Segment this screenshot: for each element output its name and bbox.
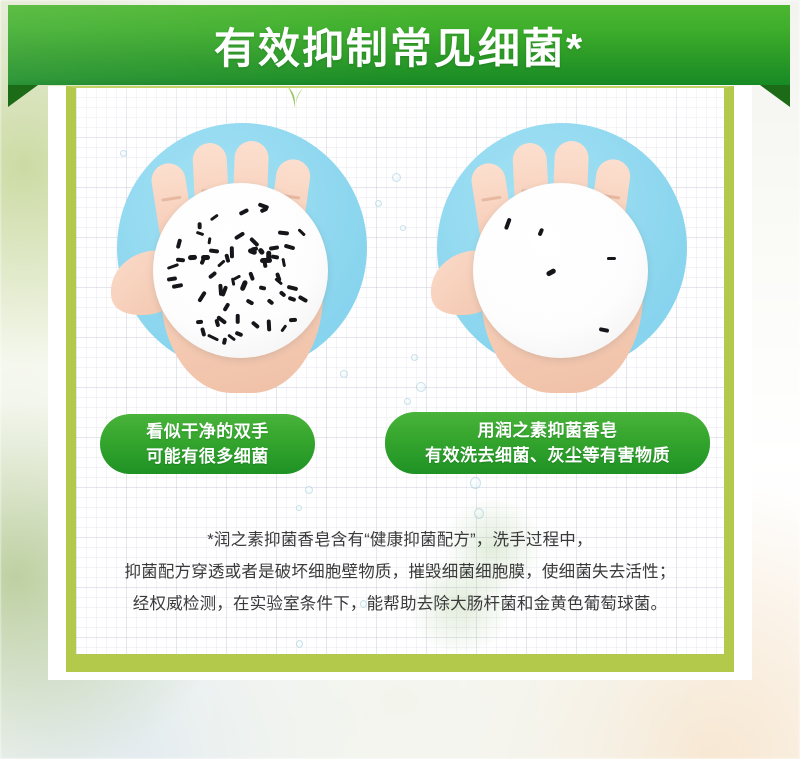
- bacteria-mark: [222, 302, 230, 312]
- water-droplet-icon: [400, 225, 406, 231]
- header-banner: 有效抑制常见细菌*: [8, 5, 790, 85]
- bacteria-mark: [176, 258, 185, 263]
- label-clean-line1: 用润之素抑菌香皂: [478, 418, 618, 443]
- bacteria-mark: [197, 291, 206, 303]
- bacteria-mark: [172, 283, 183, 289]
- water-droplet-icon: [392, 173, 401, 182]
- bacteria-mark: [222, 337, 228, 345]
- bacteria-mark: [248, 271, 255, 281]
- bacteria-disc-dirty: [153, 183, 328, 358]
- bacteria-mark: [239, 279, 248, 291]
- bacteria-mark: [280, 325, 287, 333]
- bacteria-disc-clean: [473, 183, 648, 358]
- bacteria-mark: [227, 334, 236, 342]
- bacteria-mark: [286, 284, 297, 290]
- footnote-line-2: 抑菌配方穿透或者是破坏细胞壁物质，摧毁细菌细胞膜，使细菌失去活性；: [86, 556, 714, 588]
- bacteria-mark: [210, 214, 219, 222]
- bacteria-mark: [246, 299, 255, 306]
- bacteria-mark: [266, 320, 271, 332]
- clean-hand-panel: [415, 105, 705, 405]
- banner-fold-left: [8, 85, 38, 107]
- water-droplet-icon: [305, 486, 313, 494]
- bacteria-mark: [545, 268, 555, 277]
- footnote-line-1: *润之素抑菌香皂含有“健康抑菌配方”，洗手过程中，: [86, 524, 714, 556]
- bacteria-mark: [198, 222, 202, 229]
- bacteria-mark: [269, 245, 280, 250]
- label-dirty-line1: 看似干净的双手: [146, 419, 269, 444]
- promo-page: 有效抑制常见细菌*: [0, 0, 800, 759]
- bacteria-mark: [201, 327, 207, 336]
- bacteria-mark: [260, 258, 272, 263]
- water-droplet-icon: [296, 505, 302, 511]
- bacteria-mark: [207, 334, 219, 342]
- bacteria-mark: [234, 231, 245, 240]
- bacteria-mark: [257, 247, 265, 255]
- label-clean-hand: 用润之素抑菌香皂 有效洗去细菌、灰尘等有害物质: [385, 412, 710, 474]
- bacteria-mark: [217, 259, 226, 267]
- water-droplet-icon: [404, 398, 411, 405]
- bacteria-mark: [538, 228, 545, 237]
- bacteria-mark: [504, 218, 512, 230]
- bacteria-mark: [259, 285, 267, 291]
- water-droplet-icon: [470, 477, 481, 489]
- bacteria-mark: [278, 231, 290, 236]
- dirty-hand-panel: [95, 105, 385, 405]
- bacteria-mark: [208, 236, 212, 244]
- bacteria-mark: [167, 276, 177, 282]
- label-dirty-line2: 可能有很多细菌: [146, 444, 269, 469]
- bacteria-mark: [188, 255, 198, 260]
- label-dirty-hand: 看似干净的双手 可能有很多细菌: [100, 414, 315, 474]
- bacteria-mark: [230, 246, 234, 258]
- bacteria-mark: [289, 318, 297, 322]
- footnote-paragraph: *润之素抑菌香皂含有“健康抑菌配方”，洗手过程中， 抑菌配方穿透或者是破坏细胞壁…: [86, 524, 714, 620]
- bacteria-mark: [266, 299, 274, 307]
- bacteria-mark: [251, 321, 260, 330]
- bacteria-mark: [166, 263, 178, 270]
- banner-fold-right: [760, 85, 790, 107]
- label-clean-line2: 有效洗去细菌、灰尘等有害物质: [425, 443, 670, 468]
- bacteria-mark: [196, 320, 203, 324]
- bacteria-mark: [236, 314, 240, 324]
- bacteria-mark: [209, 249, 220, 254]
- bacteria-mark: [284, 244, 296, 251]
- bacteria-mark: [249, 237, 259, 247]
- bacteria-mark: [235, 330, 244, 337]
- bacteria-mark: [297, 228, 306, 237]
- bacteria-mark: [278, 290, 286, 298]
- bacteria-mark: [196, 231, 205, 237]
- bacteria-mark: [259, 207, 268, 214]
- bacteria-mark: [200, 255, 209, 260]
- bacteria-mark: [297, 295, 308, 303]
- bacteria-mark: [176, 238, 182, 248]
- bacteria-mark: [287, 296, 296, 302]
- bacteria-mark: [607, 257, 616, 260]
- bacteria-mark: [281, 258, 286, 268]
- water-droplet-icon: [296, 640, 303, 648]
- page-title: 有效抑制常见细菌*: [8, 5, 790, 85]
- footnote-line-3: 经权威检测，在实验室条件下，能帮助去除大肠杆菌和金黄色葡萄球菌。: [86, 588, 714, 620]
- bacteria-mark: [208, 271, 218, 280]
- bacteria-mark: [238, 208, 249, 216]
- bacteria-mark: [599, 327, 610, 333]
